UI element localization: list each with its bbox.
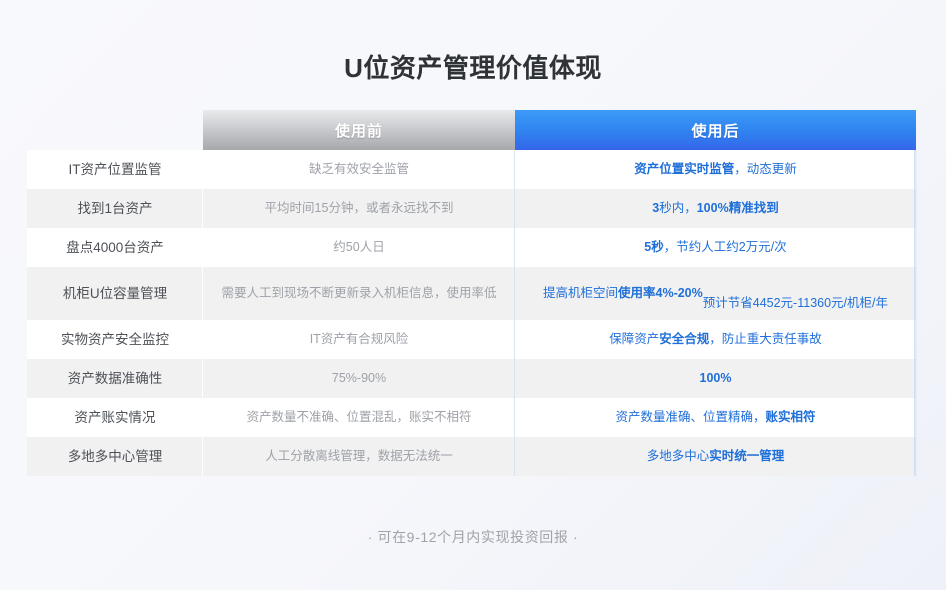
row-before-cell: 平均时间15分钟，或者永远找不到 — [203, 189, 515, 228]
table-row: 实物资产安全监控IT资产有合规风险保障资产安全合规，防止重大责任事故 — [27, 320, 916, 359]
row-before-cell: 需要人工到现场不断更新录入机柜信息，使用率低 — [203, 267, 515, 320]
page-title: U位资产管理价值体现 — [0, 48, 946, 85]
table-rows: IT资产位置监管缺乏有效安全监管资产位置实时监管，动态更新找到1台资产平均时间1… — [27, 150, 916, 476]
header-cell-after: 使用后 — [515, 110, 916, 150]
row-label-cell: 找到1台资产 — [27, 189, 203, 228]
table-row: 资产数据准确性75%-90%100% — [27, 359, 916, 398]
row-after-cell: 资产位置实时监管，动态更新 — [515, 150, 916, 189]
row-before-cell: 缺乏有效安全监管 — [203, 150, 515, 189]
row-label-cell: 实物资产安全监控 — [27, 320, 203, 359]
row-after-cell: 5秒，节约人工约2万元/次 — [515, 228, 916, 267]
row-after-cell: 提高机柜空间使用率4%-20%预计节省4452元-11360元/机柜/年 — [515, 267, 916, 320]
row-label-cell: 资产数据准确性 — [27, 359, 203, 398]
header-cell-before: 使用前 — [203, 110, 515, 150]
row-before-cell: IT资产有合规风险 — [203, 320, 515, 359]
row-before-cell: 资产数量不准确、位置混乱，账实不相符 — [203, 398, 515, 437]
table-row: 多地多中心管理人工分散离线管理，数据无法统一多地多中心实时统一管理 — [27, 437, 916, 476]
table-row: 机柜U位容量管理需要人工到现场不断更新录入机柜信息，使用率低提高机柜空间使用率4… — [27, 267, 916, 320]
row-after-cell: 3秒内，100%精准找到 — [515, 189, 916, 228]
row-label-cell: 资产账实情况 — [27, 398, 203, 437]
table-body: 使用前 使用后 IT资产位置监管缺乏有效安全监管资产位置实时监管，动态更新找到1… — [27, 110, 916, 476]
row-label-cell: 机柜U位容量管理 — [27, 267, 203, 320]
row-before-cell: 人工分散离线管理，数据无法统一 — [203, 437, 515, 476]
row-after-cell: 100% — [515, 359, 916, 398]
row-label-cell: IT资产位置监管 — [27, 150, 203, 189]
comparison-table: 使用前 使用后 IT资产位置监管缺乏有效安全监管资产位置实时监管，动态更新找到1… — [27, 110, 916, 476]
table-row: 找到1台资产平均时间15分钟，或者永远找不到3秒内，100%精准找到 — [27, 189, 916, 228]
row-before-cell: 约50人日 — [203, 228, 515, 267]
row-after-cell: 多地多中心实时统一管理 — [515, 437, 916, 476]
table-header-row: 使用前 使用后 — [27, 110, 916, 150]
row-after-cell: 资产数量准确、位置精确，账实相符 — [515, 398, 916, 437]
table-row: IT资产位置监管缺乏有效安全监管资产位置实时监管，动态更新 — [27, 150, 916, 189]
table-row: 资产账实情况资产数量不准确、位置混乱，账实不相符资产数量准确、位置精确，账实相符 — [27, 398, 916, 437]
row-before-cell: 75%-90% — [203, 359, 515, 398]
row-label-cell: 盘点4000台资产 — [27, 228, 203, 267]
row-after-cell: 保障资产安全合规，防止重大责任事故 — [515, 320, 916, 359]
header-cell-label — [27, 110, 203, 150]
row-label-cell: 多地多中心管理 — [27, 437, 203, 476]
footer-note: · 可在9-12个月内实现投资回报 · — [0, 527, 946, 547]
table-row: 盘点4000台资产约50人日5秒，节约人工约2万元/次 — [27, 228, 916, 267]
